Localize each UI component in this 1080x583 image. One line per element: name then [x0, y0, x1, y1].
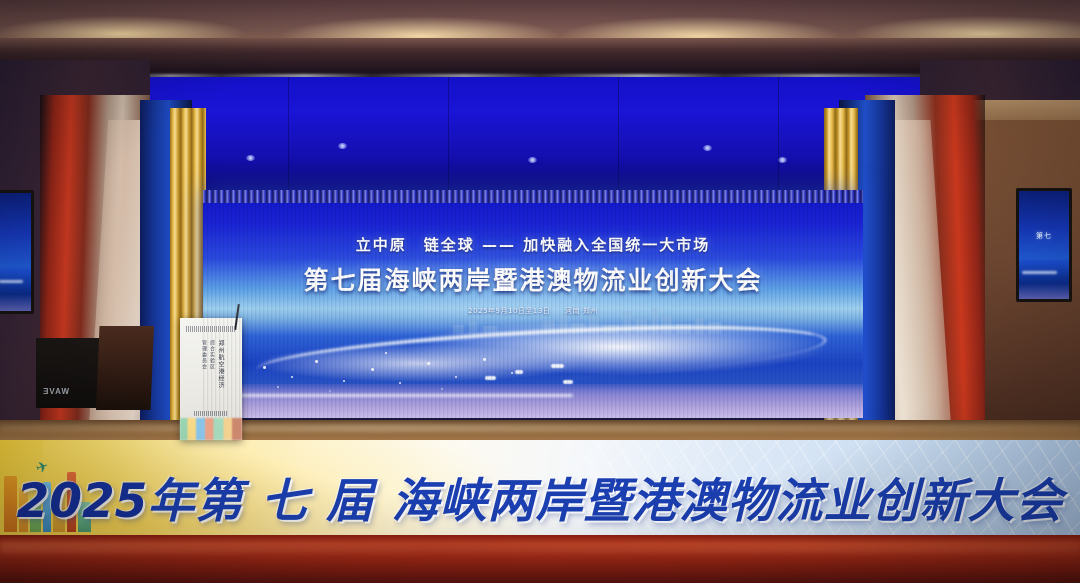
speaker-podium: 郑州航空港经济 综合实验区 管理委员会 [180, 318, 242, 440]
screen-text-block: 立中原 链全球 —— 加快融入全国统一大市场 第七届海峡两岸暨港澳物流业创新大会… [203, 234, 863, 316]
right-monitor-water [1019, 260, 1069, 299]
banner-title-rest: 年第 七 届 海峡两岸暨港澳物流业创新大会 [147, 474, 1063, 529]
podium-header-text [186, 326, 236, 332]
main-led-screen: 立中原 链全球 —— 加快融入全国统一大市场 第七届海峡两岸暨港澳物流业创新大会… [203, 190, 863, 418]
screen-subline: 2025年9月10日至13日 河南 郑州 [203, 306, 863, 316]
screen-date: 2025年9月10日至13日 [468, 307, 550, 315]
podium-column-1: 郑州航空港经济 [217, 340, 223, 402]
stage-front-banner: ✈ 2025年第 七 届 海峡两岸暨港澳物流业创新大会 [0, 440, 1080, 583]
screen-location: 河南 郑州 [565, 307, 598, 315]
podium-column-2: 综合实验区 [209, 340, 214, 402]
banner-red-skirt [0, 535, 1080, 583]
right-monitor-label: 第七 [1036, 231, 1052, 241]
left-wall-monitor [0, 190, 34, 314]
stage-speaker-box: WAVE [36, 338, 100, 408]
ceiling-valance-lit [0, 0, 1080, 40]
stage-floor-sheen [0, 424, 1080, 432]
right-wall-monitor: 第七 [1016, 188, 1072, 302]
stage-wooden-lectern [96, 326, 154, 410]
podium-organizer-logo [194, 411, 228, 416]
screen-main-title: 第七届海峡两岸暨港澳物流业创新大会 [203, 261, 863, 297]
screen-tagline: 立中原 链全球 —— 加快融入全国统一大市场 [203, 234, 863, 255]
led-top-pixel-band [203, 190, 863, 203]
banner-year: 2025 [17, 474, 148, 529]
podium-column-3: 管理委员会 [201, 340, 206, 402]
screen-lower-purple-band [203, 384, 863, 418]
podium-flower-arrangement [180, 418, 242, 440]
speaker-brand-label: WAVE [42, 387, 69, 396]
podium-vertical-text: 郑州航空港经济 综合实验区 管理委员会 [190, 340, 234, 402]
conference-stage-photo: 第七 [0, 0, 1080, 583]
left-monitor-water [0, 269, 31, 311]
banner-title-text: 2025年第 七 届 海峡两岸暨港澳物流业创新大会 [0, 462, 1080, 531]
